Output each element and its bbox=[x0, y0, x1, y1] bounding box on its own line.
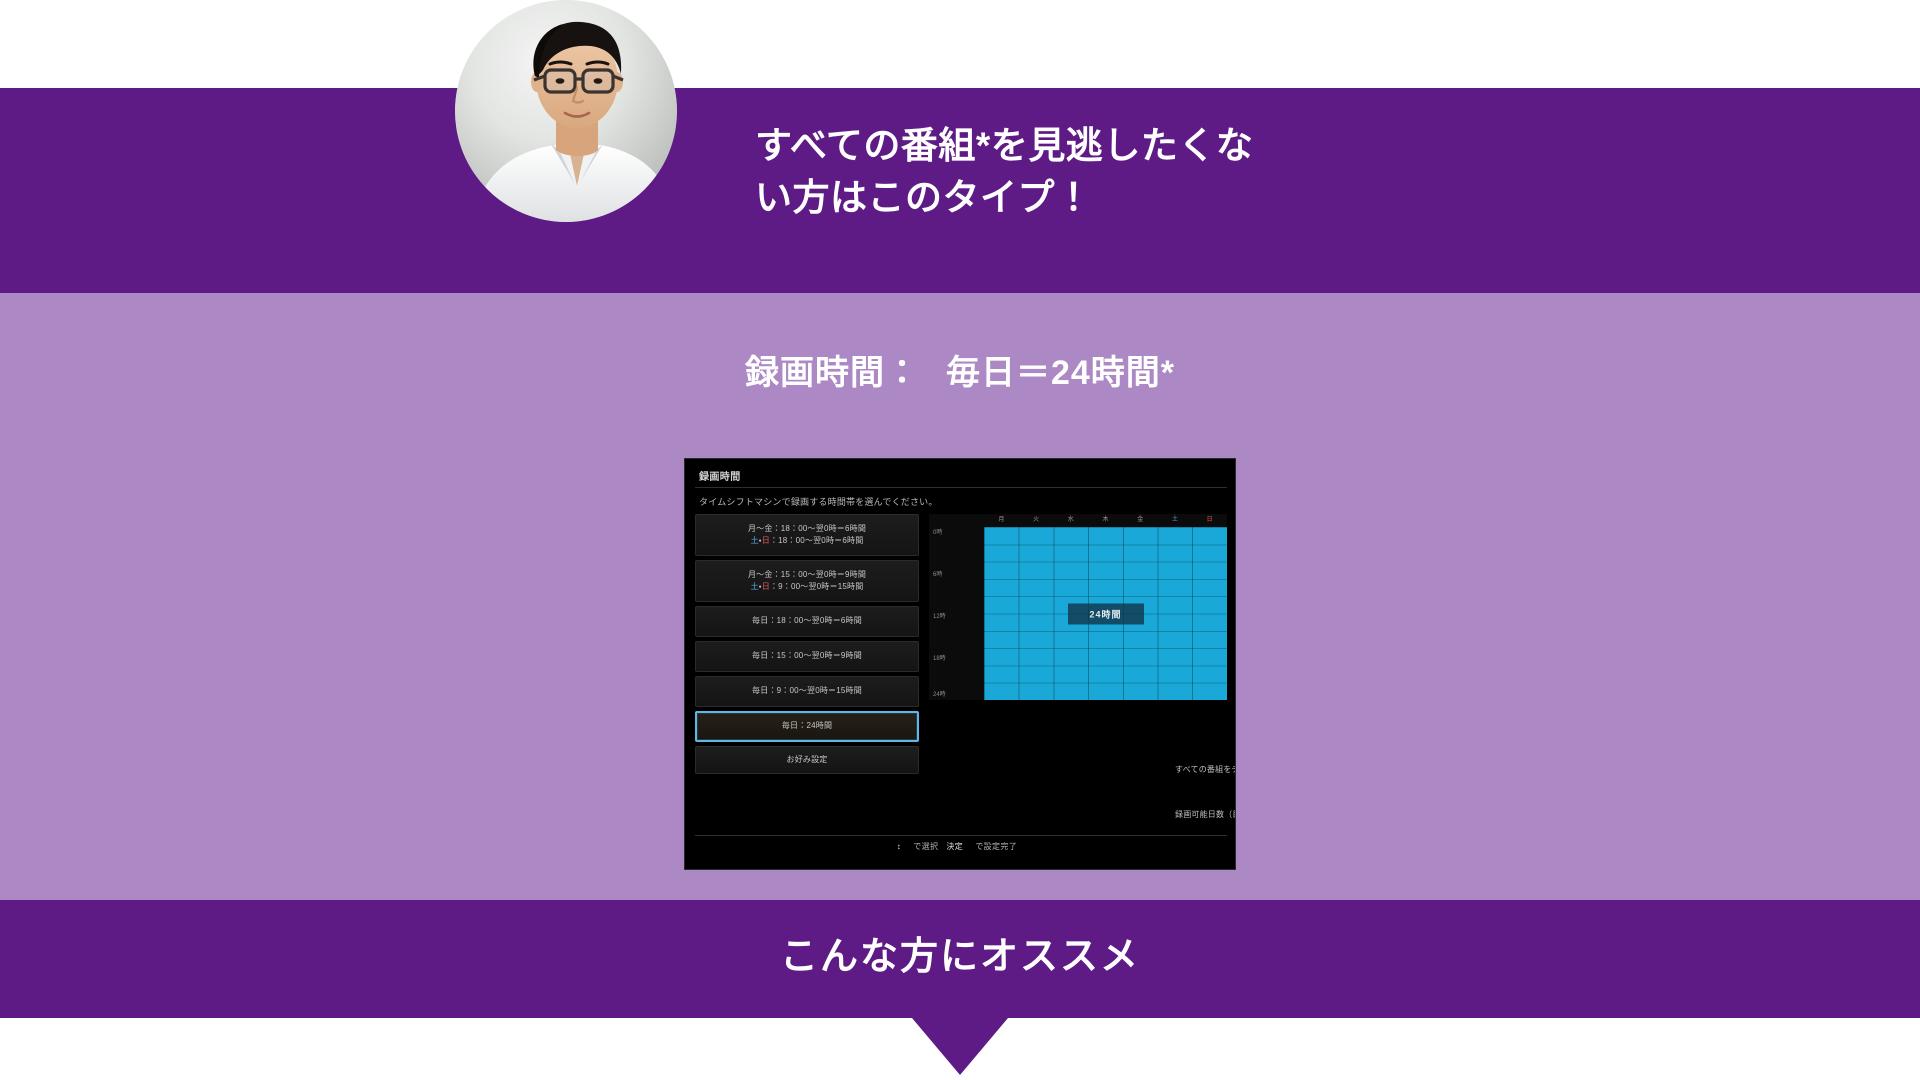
option-1-line-2: 土・日：18：00～翌0時＝6時間 bbox=[751, 535, 864, 547]
device-recommendation-note: すべての番組をチェックしたい方におすすめ。 bbox=[1175, 764, 1236, 775]
option-3-day: 毎日 bbox=[752, 616, 768, 625]
footer-headline: こんな方にオススメ bbox=[0, 925, 1920, 980]
option-4-day: 毎日 bbox=[752, 651, 768, 660]
option-3-line-1: 毎日：18：00～翌0時＝6時間 bbox=[752, 615, 862, 627]
chart-ytick-1: 6時 bbox=[933, 569, 942, 578]
option-2-line-1: 月～金：15：00～翌0時＝9時間 bbox=[748, 569, 866, 581]
chart-ytick-2: 12時 bbox=[933, 611, 946, 620]
device-footer-divider bbox=[695, 835, 1227, 836]
option-2-saturday-label: 土 bbox=[751, 582, 759, 591]
device-option-1[interactable]: 月～金：18：00～翌0時＝6時間 土・日：18：00～翌0時＝6時間 bbox=[695, 514, 919, 556]
device-option-5[interactable]: 毎日：9：00～翌0時＝15時間 bbox=[695, 676, 919, 707]
option-1-line-1: 月～金：18：00～翌0時＝6時間 bbox=[748, 523, 866, 535]
promo-page: すべての番組*を見逃したくな い方はこのタイプ！ 録画時間：毎日＝24時間* 録… bbox=[0, 0, 1920, 1080]
chart-day-6: 日 bbox=[1192, 514, 1227, 527]
option-1-time-2: ：18：00～翌0時＝6時間 bbox=[770, 536, 864, 545]
avatar bbox=[455, 0, 677, 222]
option-6-time: ：24時間 bbox=[798, 721, 832, 730]
option-4-line-1: 毎日：15：00～翌0時＝9時間 bbox=[752, 650, 862, 662]
chart-day-labels: 月 火 水 木 金 土 日 bbox=[984, 514, 1227, 527]
chart-grid-area: 24時間 bbox=[984, 527, 1227, 700]
device-screenshot-panel: 録画時間 タイムシフトマシンで録画する時間帯を選んでください。 月～金：18：0… bbox=[684, 458, 1236, 870]
chart-hour-labels: 0時 6時 12時 18時 24時 bbox=[931, 527, 983, 700]
recording-time-value: 毎日＝24時間* bbox=[946, 354, 1175, 392]
chart-day-0: 月 bbox=[984, 514, 1019, 527]
chart-ytick-0: 0時 bbox=[933, 527, 942, 536]
option-2-time-2: ：9：00～翌0時＝15時間 bbox=[770, 582, 864, 591]
device-subtitle: タイムシフトマシンで録画する時間帯を選んでください。 bbox=[699, 495, 938, 508]
chart-duration-badge: 24時間 bbox=[1067, 603, 1143, 624]
chart-ytick-3: 18時 bbox=[933, 653, 946, 662]
device-chart-panel: 月 火 水 木 金 土 日 0時 6時 12時 18時 24時 24時間 bbox=[929, 514, 1227, 700]
device-option-2[interactable]: 月～金：15：00～翌0時＝9時間 土・日：9：00～翌0時＝15時間 bbox=[695, 560, 919, 602]
chart-day-2: 水 bbox=[1053, 514, 1088, 527]
dpad-icon: ↕ bbox=[897, 842, 901, 851]
option-2-day: 月～金 bbox=[748, 570, 773, 579]
chart-day-1: 火 bbox=[1019, 514, 1054, 527]
option-1-time: ：18：00～翌0時＝6時間 bbox=[773, 524, 867, 533]
option-5-time: ：9：00～翌0時＝15時間 bbox=[768, 686, 862, 695]
down-arrow-icon bbox=[912, 1018, 1008, 1075]
option-5-line-1: 毎日：9：00～翌0時＝15時間 bbox=[752, 685, 862, 697]
device-custom-setting-button[interactable]: お好み設定 bbox=[695, 746, 919, 774]
option-2-time: ：15：00～翌0時＝9時間 bbox=[773, 570, 867, 579]
chart-day-4: 金 bbox=[1123, 514, 1158, 527]
custom-setting-label: お好み設定 bbox=[787, 754, 828, 766]
option-5-day: 毎日 bbox=[752, 686, 768, 695]
device-option-3[interactable]: 毎日：18：00～翌0時＝6時間 bbox=[695, 606, 919, 637]
enter-key-label: 決定 bbox=[946, 841, 963, 852]
device-option-list: 月～金：18：00～翌0時＝6時間 土・日：18：00～翌0時＝6時間 月～金：… bbox=[695, 514, 919, 778]
option-1-sunday-label: 日 bbox=[762, 536, 770, 545]
footer-hint-1: で選択 bbox=[913, 842, 938, 851]
device-option-6-selected[interactable]: 毎日：24時間 bbox=[695, 711, 919, 742]
header-headline: すべての番組*を見逃したくな い方はこのタイプ！ bbox=[755, 120, 1475, 224]
device-option-4[interactable]: 毎日：15：00～翌0時＝9時間 bbox=[695, 641, 919, 672]
device-title: 録画時間 bbox=[699, 468, 741, 483]
device-title-divider bbox=[695, 487, 1227, 488]
option-1-day: 月～金 bbox=[748, 524, 773, 533]
recording-heatmap: 月 火 水 木 金 土 日 0時 6時 12時 18時 24時 24時間 bbox=[929, 514, 1227, 700]
recording-time-label: 録画時間： bbox=[745, 354, 920, 392]
footer-hint-2: で設定完了 bbox=[975, 842, 1017, 851]
recording-time-caption: 録画時間：毎日＝24時間* bbox=[0, 345, 1920, 394]
option-2-line-2: 土・日：9：00～翌0時＝15時間 bbox=[751, 581, 864, 593]
option-3-time: ：18：00～翌0時＝6時間 bbox=[768, 616, 862, 625]
chart-day-3: 木 bbox=[1088, 514, 1123, 527]
device-capacity-note: 録画可能日数（目安）：約3日 bbox=[1175, 809, 1236, 820]
device-footer-hints: ↕で選択決定で設定完了 bbox=[685, 841, 1236, 852]
option-1-saturday-label: 土 bbox=[751, 536, 759, 545]
option-2-sunday-label: 日 bbox=[762, 582, 770, 591]
option-4-time: ：15：00～翌0時＝9時間 bbox=[768, 651, 862, 660]
chart-day-5: 土 bbox=[1158, 514, 1193, 527]
option-6-day: 毎日 bbox=[782, 721, 798, 730]
chart-ytick-4: 24時 bbox=[933, 689, 946, 698]
option-6-line-1: 毎日：24時間 bbox=[782, 720, 832, 732]
